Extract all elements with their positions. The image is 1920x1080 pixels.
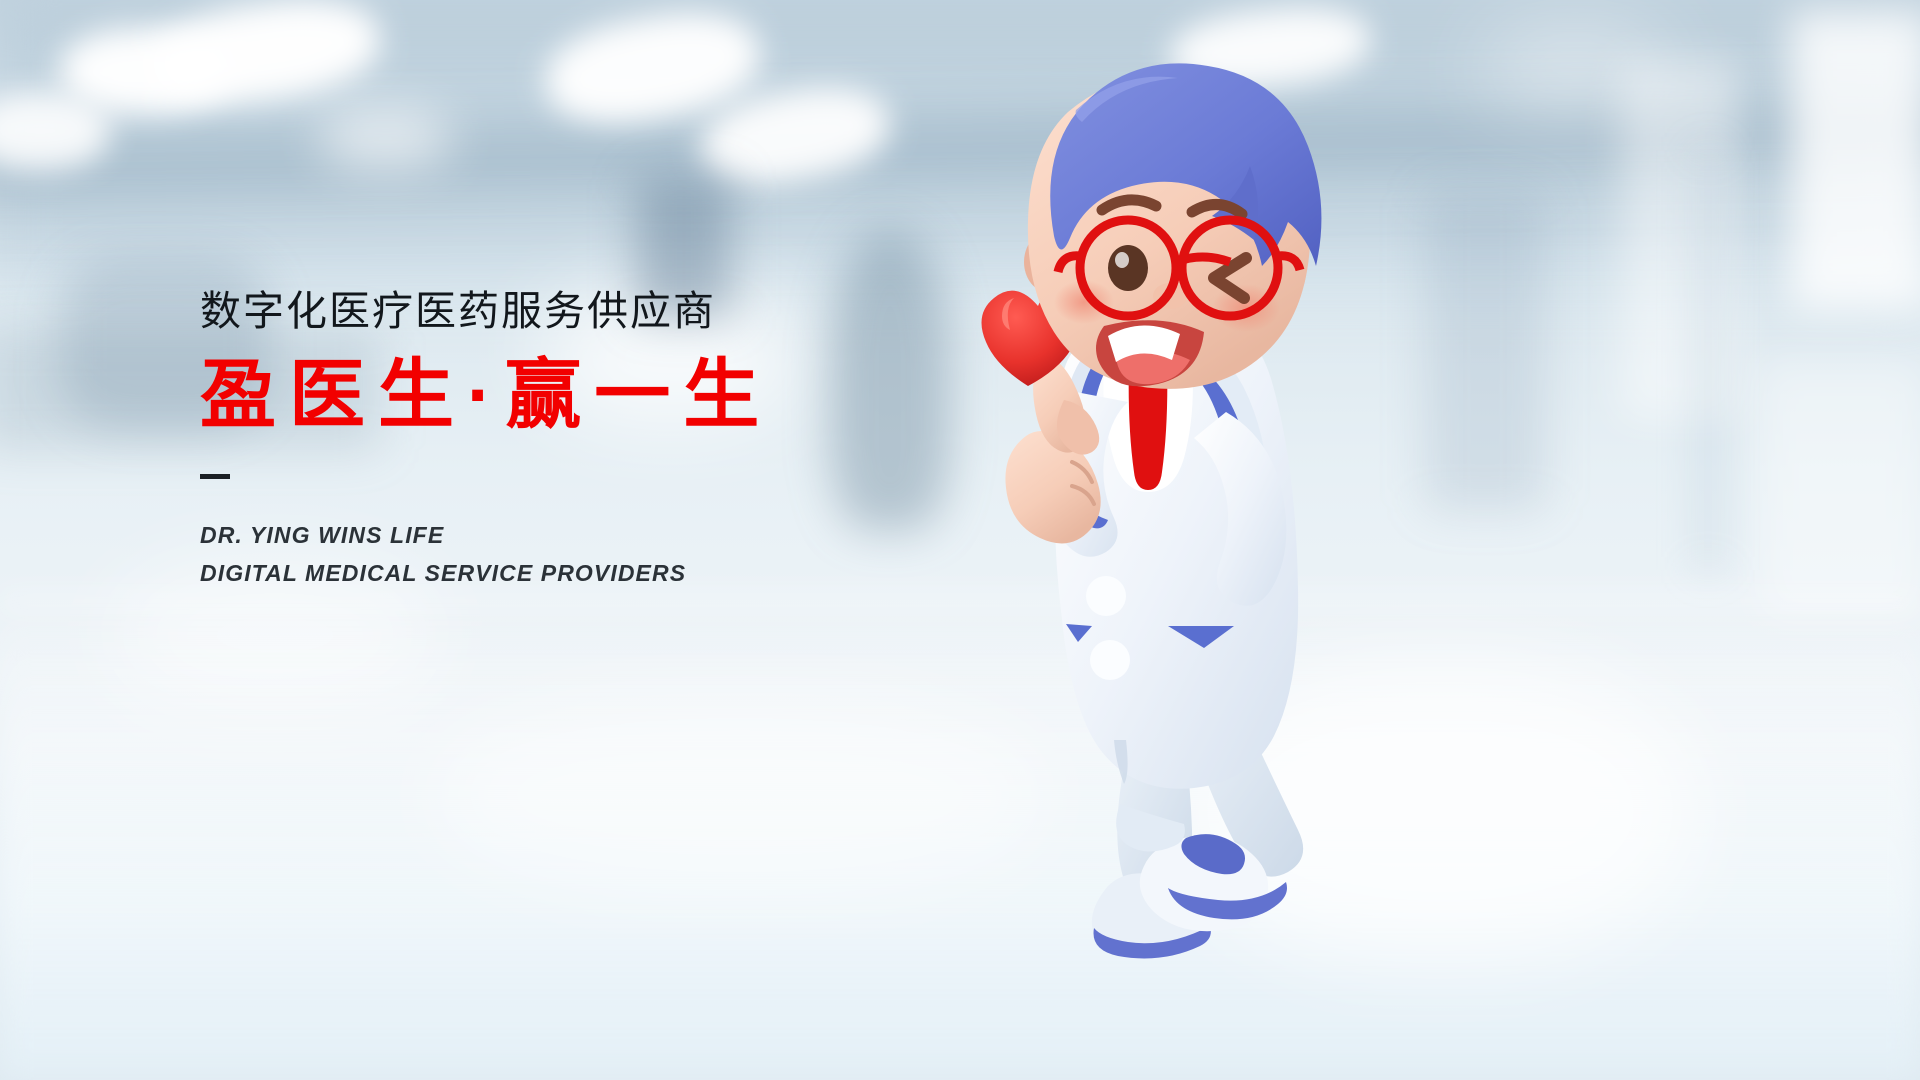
title-divider <box>200 474 230 479</box>
subtitle-line-2: DIGITAL MEDICAL SERVICE PROVIDERS <box>200 555 1020 592</box>
open-eye <box>1108 245 1148 291</box>
page-title: 盈医生·赢一生 <box>200 353 1020 438</box>
kicker-text: 数字化医疗医药服务供应商 <box>200 286 1020 337</box>
hero-copy: 数字化医疗医药服务供应商 盈医生·赢一生 DR. YING WINS LIFE … <box>200 286 1020 592</box>
subtitle-line-1: DR. YING WINS LIFE <box>200 517 1020 554</box>
coat-button <box>1086 576 1126 616</box>
subtitle-block: DR. YING WINS LIFE DIGITAL MEDICAL SERVI… <box>200 517 1020 592</box>
doctor-mascot <box>980 40 1400 1040</box>
hero-banner: 数字化医疗医药服务供应商 盈医生·赢一生 DR. YING WINS LIFE … <box>0 0 1920 1080</box>
coat-button <box>1090 640 1130 680</box>
floor-reflection <box>0 600 1920 1080</box>
